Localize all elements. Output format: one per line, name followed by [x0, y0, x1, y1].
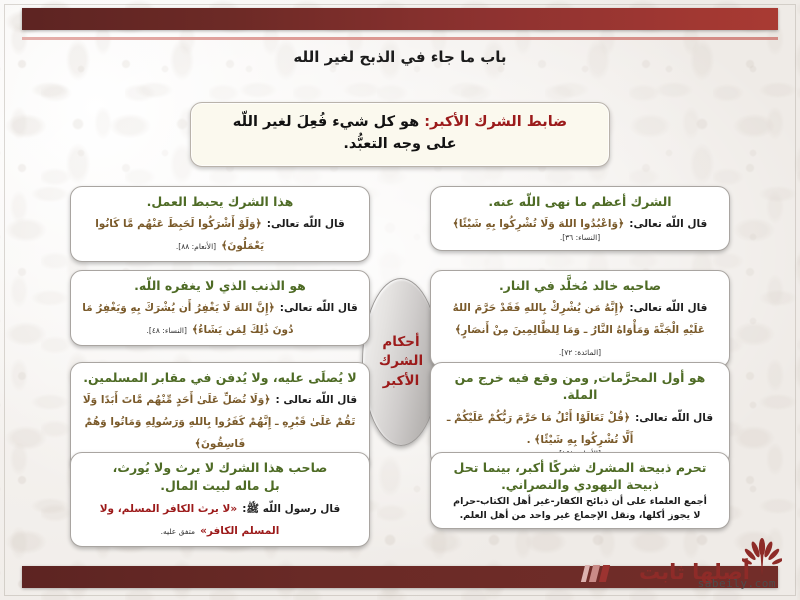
left-card-4-heading-1: صاحب هذا الشرك لا يرث ولا يُورث،	[80, 459, 360, 476]
logo-domain-text: sabeily.com	[698, 577, 776, 590]
left-card-3-said: قال اللّه تعالى :	[275, 394, 357, 406]
left-card-2-ref: [النساء: ٤٨].	[147, 326, 187, 335]
right-card-1-said: قال اللّه تعالى:	[629, 218, 707, 230]
left-card-4-body: قال رسول اللّه ﷺ: «لا يرث الكافر المسلم،…	[80, 496, 360, 540]
right-card-1-ayah: ﴿وَاعْبُدُوا اللهَ وَلَا تُشْرِكُوا بِهِ…	[453, 218, 625, 230]
right-card-3-said: قال اللّه تعالى:	[635, 412, 713, 424]
right-card-4-heading: تحرم ذبيحة المشرك شركًا أكبر، بينما تحل …	[440, 459, 720, 494]
left-card-2-ayah: ﴿إِنَّ اللهَ لَا يَغْفِرُ أَن يُشْرَكَ ب…	[82, 302, 293, 336]
definition-key-label: ضابط الشرك الأكبر:	[424, 114, 567, 130]
left-card-3-heading: لا يُصلَى عليه، ولا يُدفن في مقابر المسل…	[80, 369, 360, 386]
top-decorative-bar	[22, 8, 778, 30]
center-topic-line-2: الشرك	[379, 352, 423, 372]
left-card-1-ref: [الأنعام: ٨٨].	[176, 242, 216, 251]
left-card-4-said: قال رسول اللّه ﷺ:	[242, 503, 340, 515]
left-card-1-heading: هذا الشرك يحبط العمل.	[80, 193, 360, 210]
right-card-4: تحرم ذبيحة المشرك شركًا أكبر، بينما تحل …	[430, 452, 730, 529]
left-card-4-ref: متفق عليه.	[161, 527, 195, 536]
definition-line-2: على وجه التعبُّد.	[207, 134, 593, 156]
left-card-2: هو الذنب الذي لا يغفره اللّه. قال اللّه …	[70, 270, 370, 346]
right-card-3-body: قال اللّه تعالى: ﴿قُلْ تَعَالَوْا أَتْلُ…	[440, 405, 720, 449]
left-card-2-body: قال اللّه تعالى: ﴿إِنَّ اللهَ لَا يَغْفِ…	[80, 295, 360, 339]
right-card-2-said: قال اللّه تعالى:	[629, 302, 707, 314]
right-card-2-body: قال اللّه تعالى: ﴿إِنَّهُ مَن يُشْرِكْ ب…	[440, 295, 720, 361]
right-card-1: الشرك أعظم ما نهى اللّه عنه. قال اللّه ت…	[430, 186, 730, 251]
right-card-4-note-1: أجمع العلماء على أن ذبائح الكفار-غير أهل…	[440, 495, 720, 508]
logo-accent-bars	[583, 565, 608, 582]
definition-box: ضابط الشرك الأكبر: هو كل شيء فُعِلَ لغير…	[190, 102, 610, 167]
right-card-1-ref: [النساء: ٣٦].	[440, 233, 720, 243]
left-card-1-body: قال اللّه تعالى: ﴿وَلَوْ أَشْرَكُوا لَحَ…	[80, 211, 360, 255]
left-card-4: صاحب هذا الشرك لا يرث ولا يُورث، بل ماله…	[70, 452, 370, 547]
center-topic-oval: أحكام الشرك الأكبر	[362, 278, 440, 446]
left-card-2-said: قال اللّه تعالى:	[280, 302, 358, 314]
right-card-3-heading: هو أول المحرَّمات, ومن وقع فيه خرج من ال…	[440, 369, 720, 404]
right-card-1-heading: الشرك أعظم ما نهى اللّه عنه.	[440, 193, 720, 210]
right-card-3: هو أول المحرَّمات, ومن وقع فيه خرج من ال…	[430, 362, 730, 466]
page-title: باب ما جاء في الذبح لغير الله	[0, 48, 800, 66]
right-card-3-ayah: ﴿قُلْ تَعَالَوْا أَتْلُ مَا حَرَّمَ رَبُ…	[447, 412, 634, 446]
center-topic-line-3: الأكبر	[379, 372, 423, 392]
right-card-1-body: قال اللّه تعالى: ﴿وَاعْبُدُوا اللهَ وَلَ…	[440, 211, 720, 233]
right-card-4-note-2: لا يجوز أكلها، ونقل الإجماع غير واحد من …	[440, 509, 720, 522]
left-card-2-heading: هو الذنب الذي لا يغفره اللّه.	[80, 277, 360, 294]
right-card-2-ref: [المائدة: ٧٢].	[559, 348, 601, 357]
center-topic-text: أحكام الشرك الأكبر	[379, 333, 423, 392]
top-accent-line	[22, 37, 778, 40]
right-card-2-heading: صاحبه خالد مُخلَّد في النار.	[440, 277, 720, 294]
left-card-4-heading-2: بل ماله لبيت المال.	[80, 477, 360, 494]
right-card-2: صاحبه خالد مُخلَّد في النار. قال اللّه ت…	[430, 270, 730, 368]
left-card-1-said: قال اللّه تعالى:	[267, 218, 345, 230]
left-card-3-body: قال اللّه تعالى : ﴿وَلَا تُصَلِّ عَلَىٰ …	[80, 387, 360, 453]
left-card-1: هذا الشرك يحبط العمل. قال اللّه تعالى: ﴿…	[70, 186, 370, 262]
definition-line-1-rest: هو كل شيء فُعِلَ لغير اللّه	[233, 114, 424, 130]
slide-canvas: باب ما جاء في الذبح لغير الله ضابط الشرك…	[0, 0, 800, 600]
center-topic-line-1: أحكام	[379, 333, 423, 353]
definition-line-1: ضابط الشرك الأكبر: هو كل شيء فُعِلَ لغير…	[207, 112, 593, 134]
